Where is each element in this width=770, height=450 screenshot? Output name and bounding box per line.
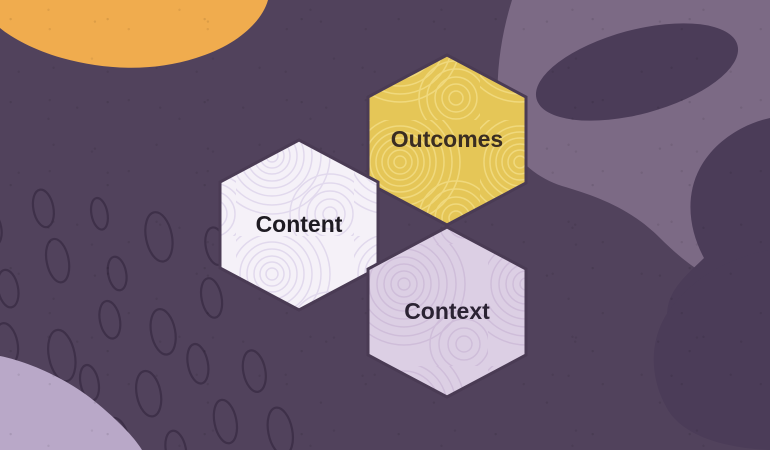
hexagon-outcomes-label: Outcomes — [391, 126, 503, 152]
infographic-canvas: Outcomes Content Context — [0, 0, 770, 450]
background-layer — [0, 0, 770, 450]
hexagon-content-label: Content — [256, 211, 343, 237]
hexagon-context-label: Context — [404, 298, 490, 324]
